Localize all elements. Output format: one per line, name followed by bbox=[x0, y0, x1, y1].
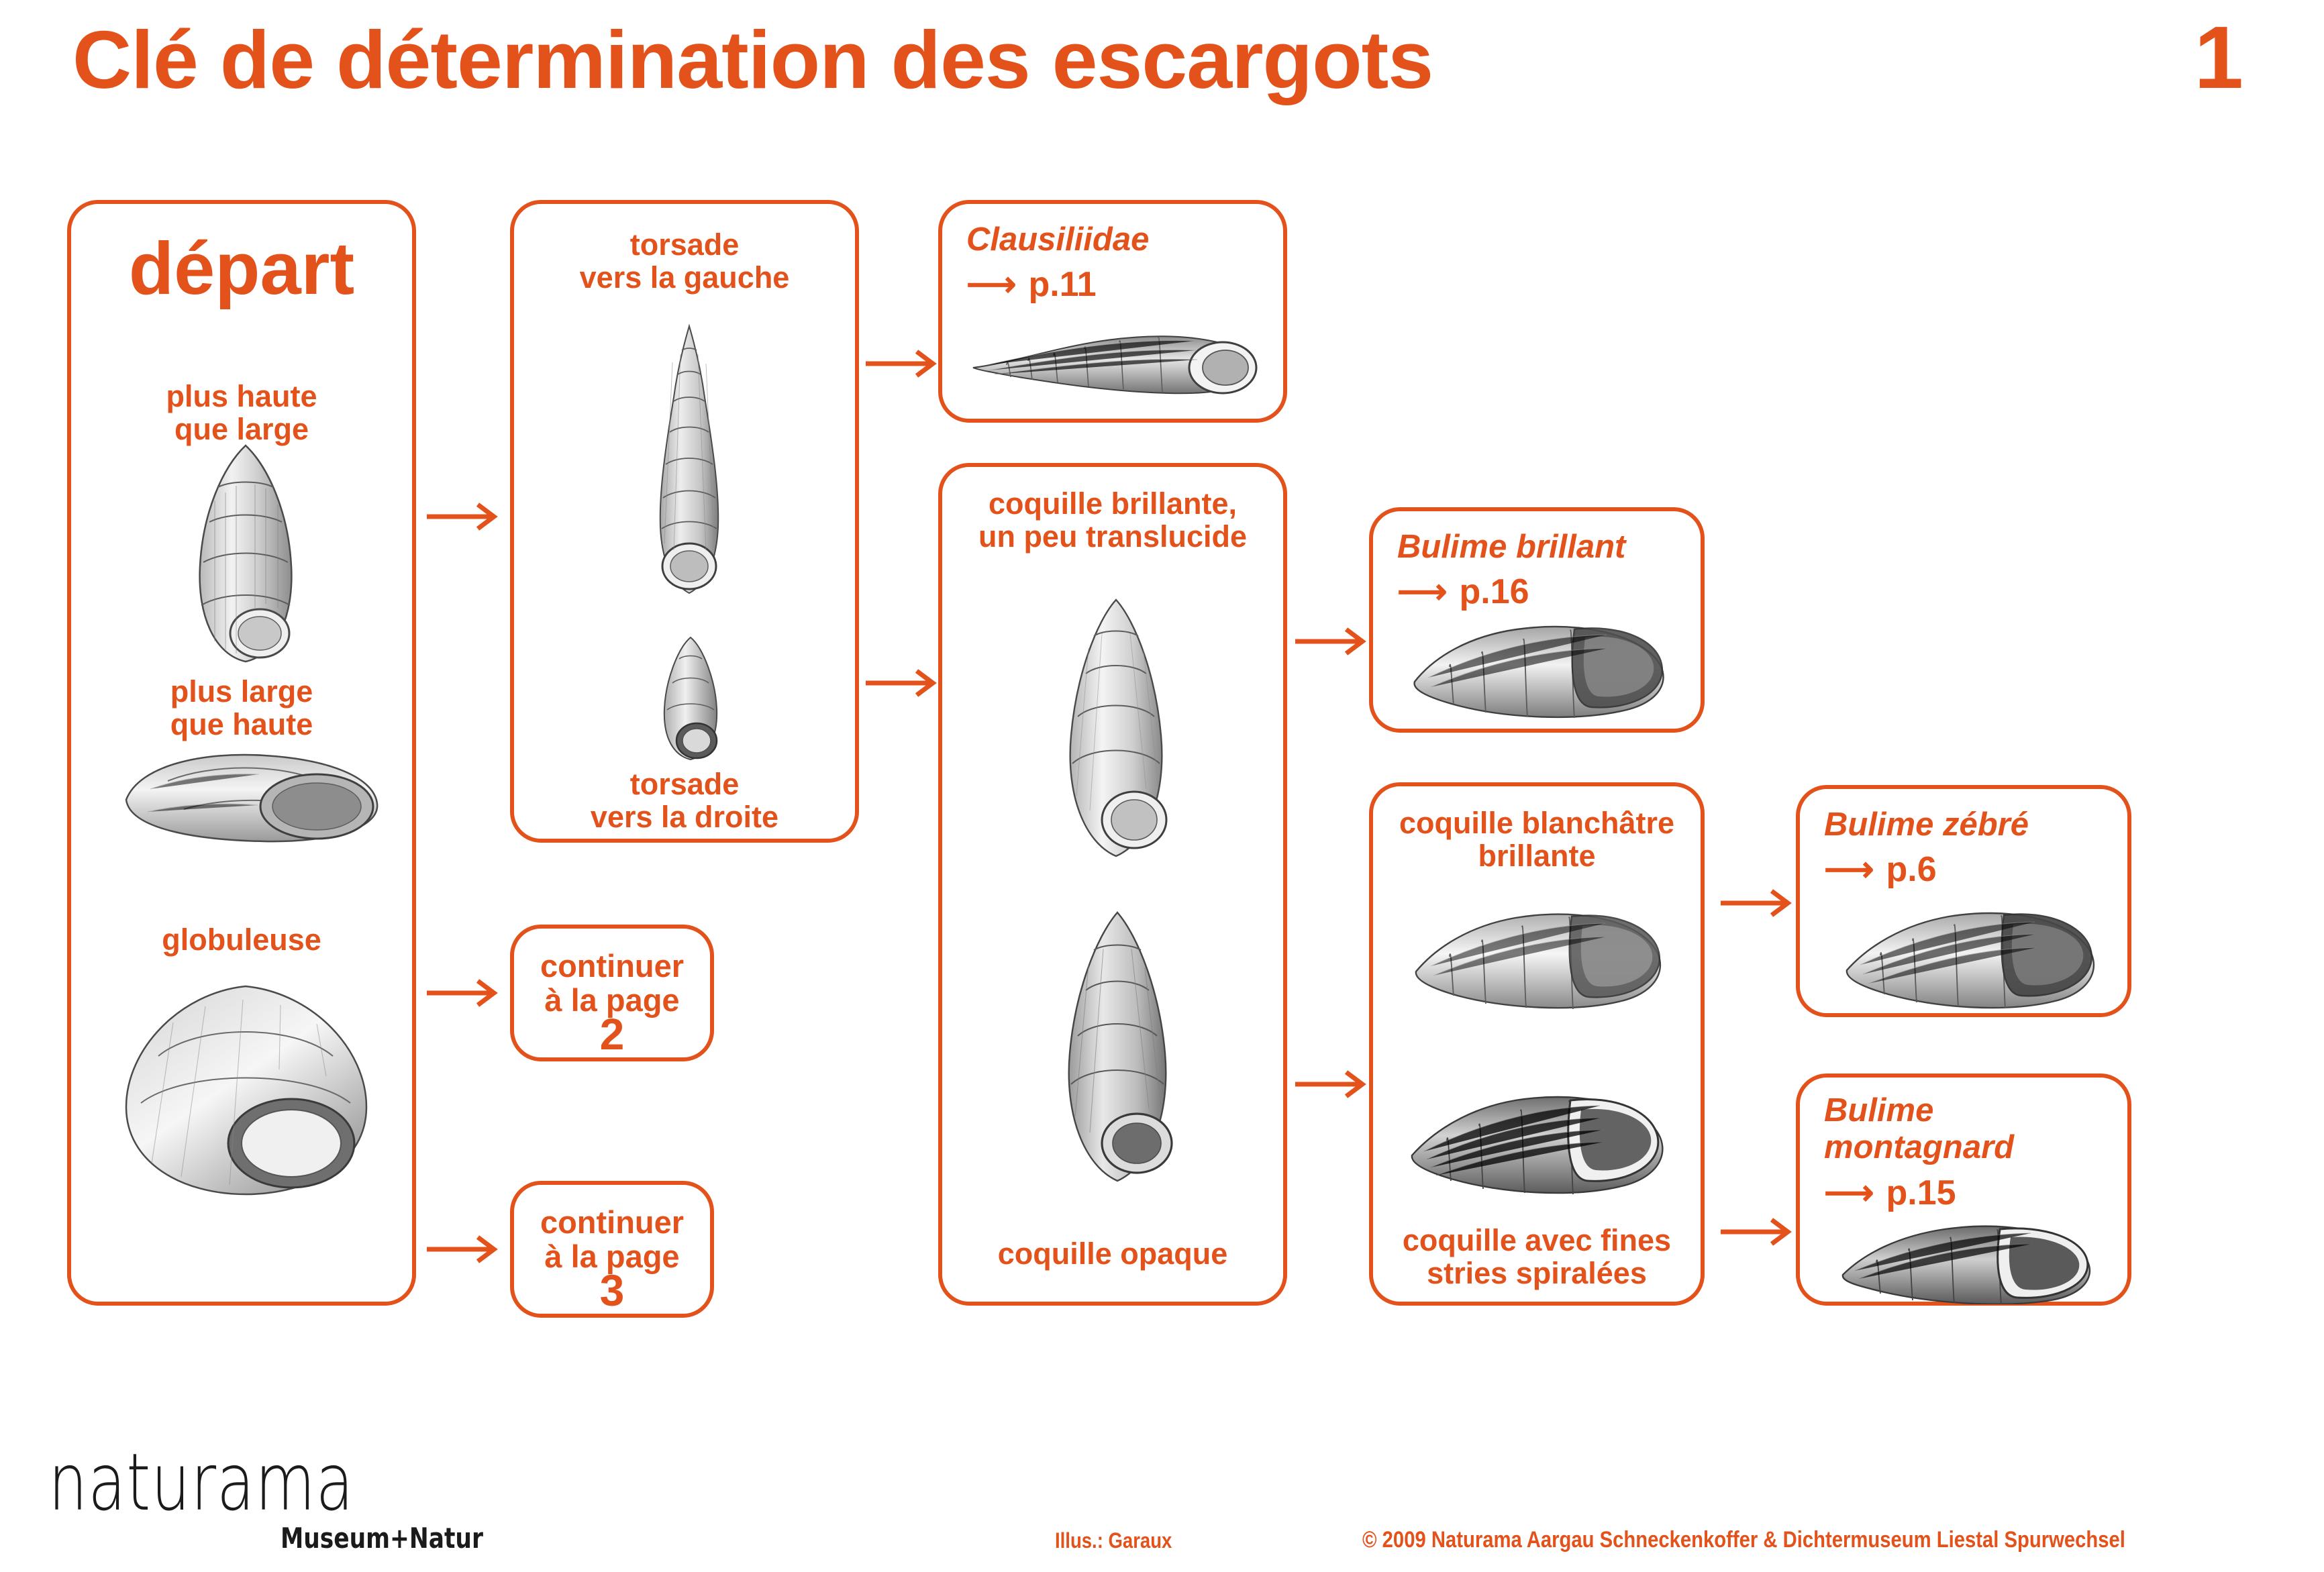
coquille-brillante-label: coquille brillante, un peu translucide bbox=[942, 487, 1283, 553]
globular-shell-illustration bbox=[111, 976, 380, 1204]
coquille-stries-spiralees-label: coquille avec fines stries spiralées bbox=[1373, 1224, 1701, 1290]
blanchatre-stries-box[interactable]: coquille blanchâtre brillante bbox=[1369, 782, 1705, 1306]
continue-page-2-label: continuer à la page bbox=[514, 949, 710, 1017]
branch-label-taller-than-wide: plus haute que large bbox=[71, 380, 412, 446]
arrow-brillante-to-bulime-brillant bbox=[1295, 624, 1370, 659]
key-diagram-page: Clé de détermination des escargots 1 dép… bbox=[0, 0, 2324, 1572]
continue-page-3-label: continuer à la page bbox=[514, 1205, 710, 1273]
torsade-box[interactable]: torsade vers la gauche bbox=[510, 200, 859, 843]
continue-page-2-number: 2 bbox=[514, 1012, 710, 1056]
arrow-torsade-right-to-brillante bbox=[866, 666, 941, 700]
naturama-logo: naturama bbox=[48, 1443, 354, 1522]
bulime-montagnard-name: Bulime montagnard bbox=[1824, 1092, 2014, 1166]
start-title: départ bbox=[71, 232, 412, 306]
bulime-zebre-name: Bulime zébré bbox=[1824, 806, 2029, 843]
arrow-blanchatre-to-bulime-zebre bbox=[1721, 886, 1796, 921]
naturama-logo-subtitle: Museum+Natur bbox=[281, 1524, 483, 1553]
dextral-small-shell-illustration bbox=[646, 633, 736, 765]
arrow-stries-to-bulime-montagnard bbox=[1721, 1214, 1796, 1249]
arrow-opaque-to-blanchatre bbox=[1295, 1067, 1370, 1102]
bulime-zebre-page-label: p.6 bbox=[1886, 852, 1937, 887]
arrow-start-to-page-2 bbox=[427, 976, 502, 1010]
clausiliidae-box[interactable]: Clausiliidae ⟶ p.11 bbox=[938, 200, 1287, 423]
bulime-brillant-shell-illustration bbox=[1405, 612, 1674, 723]
torsade-left-label: torsade vers la gauche bbox=[514, 228, 855, 294]
bulime-brillant-page-ref: ⟶ p.16 bbox=[1397, 574, 1529, 609]
illustration-credit: Illus.: Garaux bbox=[1055, 1530, 1172, 1551]
arrow-right-icon: ⟶ bbox=[1397, 574, 1448, 609]
bulime-brillant-box[interactable]: Bulime brillant ⟶ p.16 bbox=[1369, 507, 1705, 733]
torsade-right-label: torsade vers la droite bbox=[514, 768, 855, 833]
bulime-montagnard-page-ref: ⟶ p.15 bbox=[1824, 1175, 1956, 1210]
opaque-shell-illustration bbox=[1029, 907, 1205, 1189]
clausiliidae-page-label: p.11 bbox=[1029, 267, 1097, 302]
sinistral-tall-shell-illustration bbox=[627, 322, 752, 604]
bulime-zebre-page-ref: ⟶ p.6 bbox=[1824, 852, 1937, 887]
tall-spire-shell-illustration bbox=[150, 440, 341, 666]
copyright-notice: © 2009 Naturama Aargau Schneckenkoffer &… bbox=[1362, 1528, 2125, 1551]
bulime-brillant-name: Bulime brillant bbox=[1397, 529, 1625, 566]
start-box[interactable]: départ plus haute que large bbox=[67, 200, 416, 1306]
arrow-torsade-left-to-clausiliidae bbox=[866, 346, 941, 381]
continue-page-3-number: 3 bbox=[514, 1268, 710, 1312]
arrow-start-to-torsade bbox=[427, 499, 502, 534]
bulime-montagnard-box[interactable]: Bulime montagnard ⟶ p.15 bbox=[1796, 1073, 2131, 1306]
flat-wide-shell-illustration bbox=[103, 742, 387, 852]
bulime-zebre-shell-illustration bbox=[1840, 896, 2105, 1012]
bulime-zebre-box[interactable]: Bulime zébré ⟶ p.6 bbox=[1796, 785, 2131, 1017]
page-number: 1 bbox=[2194, 13, 2243, 102]
continue-page-3-box[interactable]: continuer à la page 3 bbox=[510, 1181, 714, 1318]
whitish-glossy-shell-illustration bbox=[1409, 896, 1671, 1016]
branch-label-globular: globuleuse bbox=[71, 923, 412, 956]
fine-spiral-striae-shell-illustration bbox=[1405, 1075, 1674, 1202]
branch-label-wider-than-tall: plus large que haute bbox=[71, 675, 412, 741]
arrow-start-to-page-3 bbox=[427, 1232, 502, 1267]
clausiliidae-horizontal-shell-illustration bbox=[966, 323, 1264, 404]
glossy-translucent-shell-illustration bbox=[1032, 594, 1200, 863]
continue-page-2-box[interactable]: continuer à la page 2 bbox=[510, 925, 714, 1061]
clausiliidae-page-ref: ⟶ p.11 bbox=[966, 267, 1097, 302]
clausiliidae-name: Clausiliidae bbox=[966, 221, 1149, 258]
bulime-brillant-page-label: p.16 bbox=[1460, 574, 1529, 609]
bulime-montagnard-page-label: p.15 bbox=[1886, 1175, 1956, 1210]
arrow-right-icon: ⟶ bbox=[1824, 852, 1874, 887]
page-title: Clé de détermination des escargots bbox=[72, 19, 1433, 101]
coquille-opaque-label: coquille opaque bbox=[942, 1237, 1283, 1270]
arrow-right-icon: ⟶ bbox=[966, 267, 1017, 302]
arrow-right-icon: ⟶ bbox=[1824, 1175, 1874, 1210]
bulime-montagnard-shell-illustration bbox=[1836, 1220, 2102, 1304]
brillante-opaque-box[interactable]: coquille brillante, un peu translucide bbox=[938, 463, 1287, 1306]
coquille-blanchatre-label: coquille blanchâtre brillante bbox=[1373, 806, 1701, 872]
